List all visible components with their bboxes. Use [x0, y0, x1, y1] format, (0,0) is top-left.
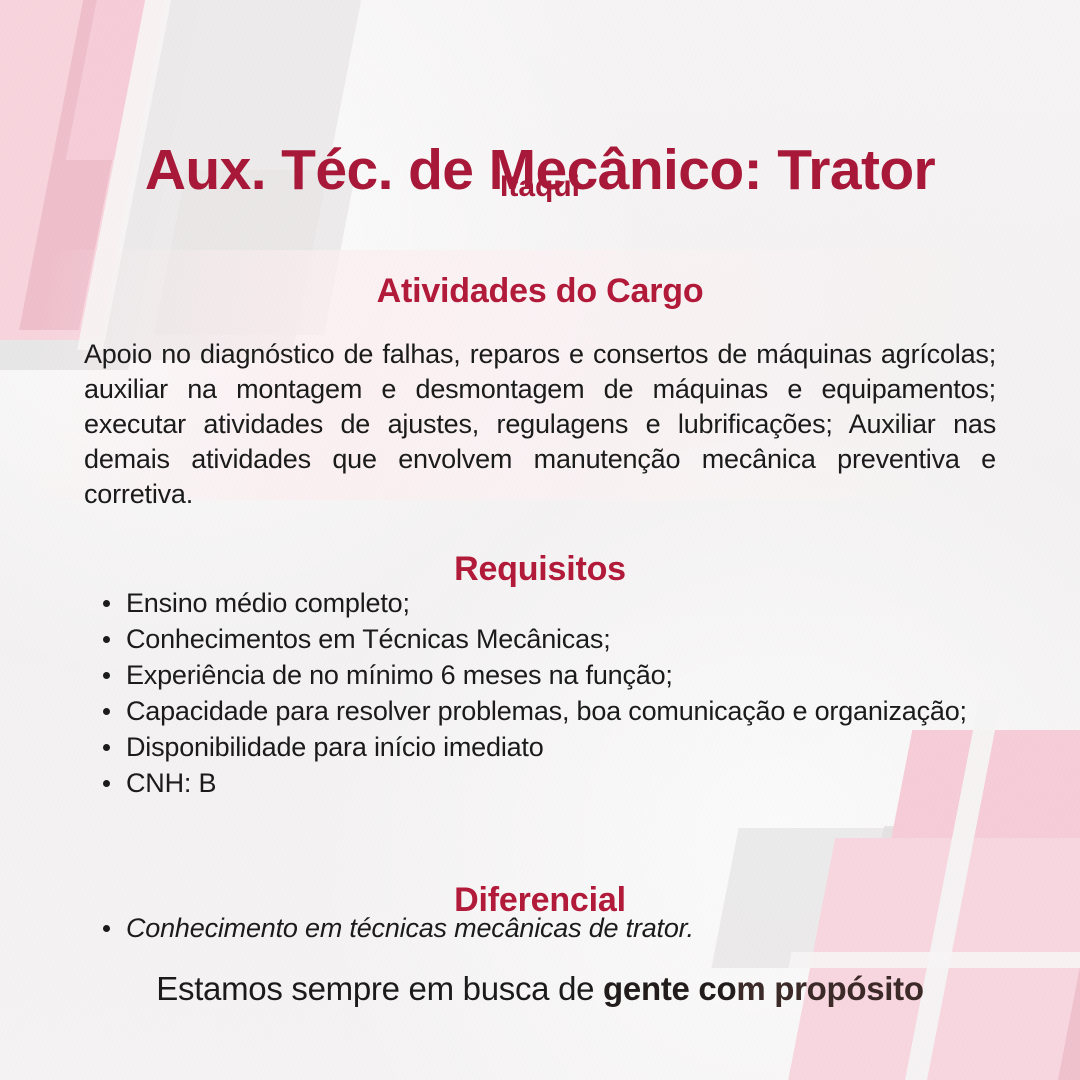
atividades-paragraph: Apoio no diagnóstico de falhas, reparos …: [84, 337, 996, 512]
list-item: Ensino médio completo;: [95, 585, 975, 621]
list-item: Conhecimento em técnicas mecânicas de tr…: [95, 910, 975, 946]
list-item: CNH: B: [95, 765, 975, 801]
section-heading-atividades: Atividades do Cargo: [0, 274, 1080, 308]
footer-tagline: Estamos sempre em busca de gente com pro…: [0, 972, 1080, 1005]
requisitos-list: Ensino médio completo;Conhecimentos em T…: [95, 585, 975, 801]
list-item: Disponibilidade para início imediato: [95, 729, 975, 765]
section-heading-requisitos: Requisitos: [0, 552, 1080, 586]
footer-tagline-bold-warm: m propósito: [736, 970, 923, 1007]
diferencial-list: Conhecimento em técnicas mecânicas de tr…: [95, 910, 975, 946]
footer-tagline-regular: Estamos sempre em busca de: [156, 970, 603, 1007]
poster-canvas: Aux. Téc. de Mecânico: Trator Itaqui Ati…: [0, 0, 1080, 1080]
list-item: Experiência de no mínimo 6 meses na funç…: [95, 657, 975, 693]
job-location: Itaqui: [0, 172, 1080, 202]
footer-tagline-bold: gente co: [603, 970, 736, 1007]
list-item: Conhecimentos em Técnicas Mecânicas;: [95, 621, 975, 657]
list-item: Capacidade para resolver problemas, boa …: [95, 693, 975, 729]
